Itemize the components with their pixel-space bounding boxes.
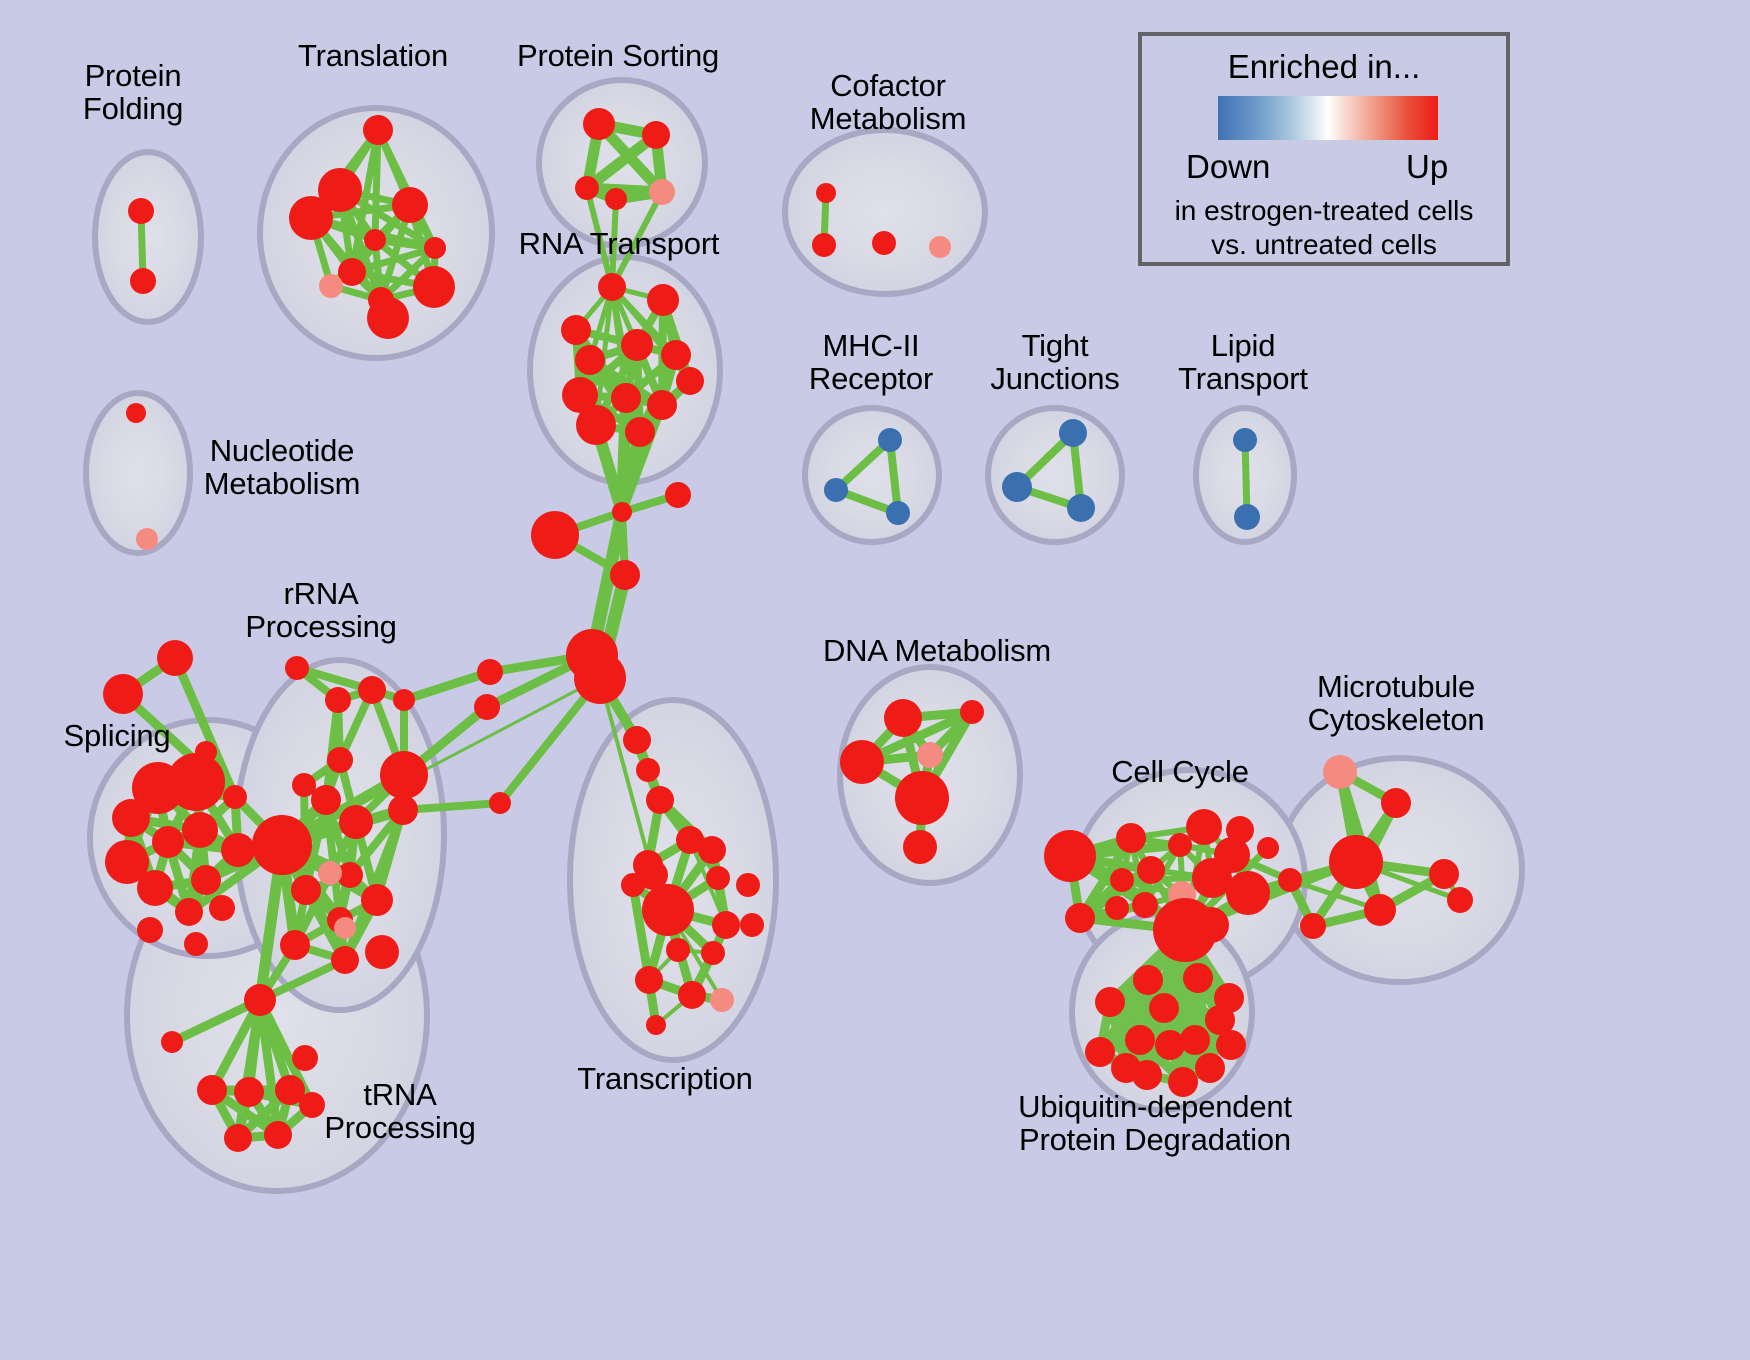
- node-group-spine: [474, 482, 691, 814]
- hull-cofactor-metabolism: [785, 130, 985, 294]
- hull-mhc-ii-receptor: [805, 408, 939, 542]
- legend-down-label: Down: [1186, 148, 1270, 186]
- legend-color-gradient-bar: [1218, 96, 1438, 140]
- legend-title: Enriched in...: [1142, 48, 1506, 86]
- legend-box: Enriched in... Down Up in estrogen-treat…: [1138, 32, 1510, 266]
- enrichment-map-figure: Protein Folding Translation Protein Sort…: [0, 0, 1750, 1360]
- legend-up-label: Up: [1406, 148, 1448, 186]
- hull-protein-folding: [95, 152, 201, 322]
- legend-caption: in estrogen-treated cells vs. untreated …: [1142, 194, 1506, 261]
